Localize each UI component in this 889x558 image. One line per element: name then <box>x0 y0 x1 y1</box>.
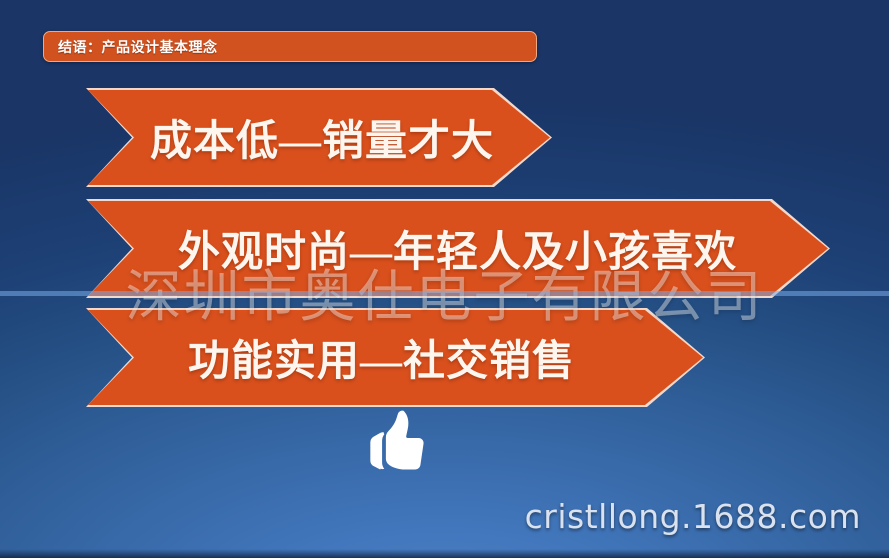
url-watermark: cristllong.1688.com <box>525 497 861 536</box>
banner-1-label: 成本低—销量才大 <box>150 107 494 168</box>
banner-cost: 成本低—销量才大 <box>88 90 550 185</box>
bottom-edge-shading <box>0 549 889 558</box>
banner-appearance: 外观时尚—年轻人及小孩喜欢 <box>88 201 828 296</box>
page-title: 结语：产品设计基本理念 <box>44 37 218 57</box>
thumbs-up-icon <box>360 407 436 483</box>
slide-canvas: 结语：产品设计基本理念 成本低—销量才大 外观时尚—年轻人及小孩喜欢 功能实用—… <box>0 0 889 558</box>
section-header-bar: 结语：产品设计基本理念 <box>43 31 537 62</box>
banner-2-label: 外观时尚—年轻人及小孩喜欢 <box>178 218 737 279</box>
banner-function: 功能实用—社交销售 <box>88 310 703 405</box>
banner-3-label: 功能实用—社交销售 <box>188 327 575 388</box>
